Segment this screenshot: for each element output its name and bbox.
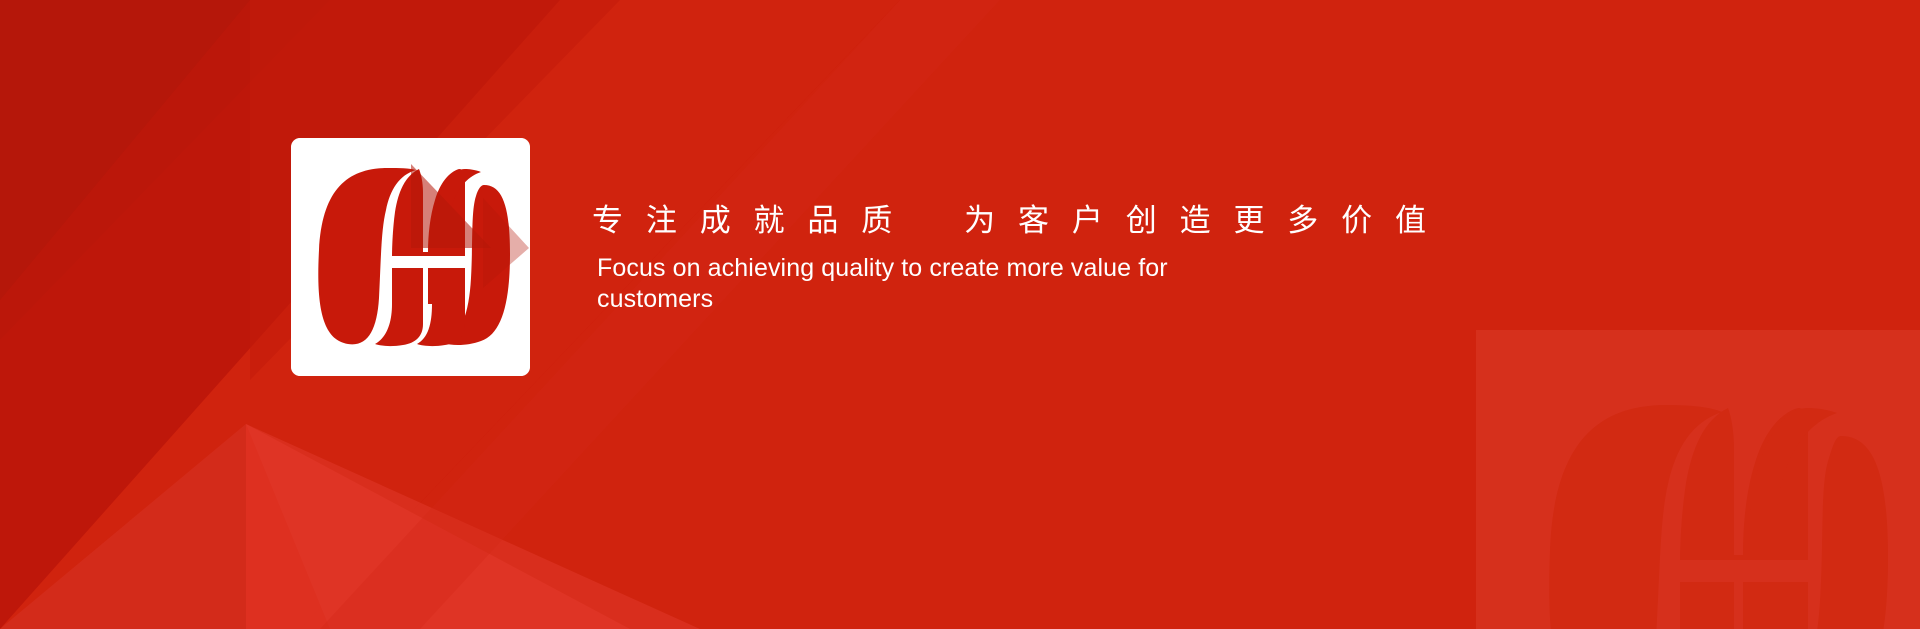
logo-watermark [1476,330,1920,629]
banner-text-block: 专 注 成 就 品 质 为 客 户 创 造 更 多 价 值 Focus on a… [592,198,1292,315]
subline-english: Focus on achieving quality to create mor… [597,253,1227,315]
h-monogram-icon [291,138,530,376]
headline-chinese: 专 注 成 就 品 质 为 客 户 创 造 更 多 价 值 [592,198,1292,244]
company-logo [291,138,530,376]
hero-banner: 专 注 成 就 品 质 为 客 户 创 造 更 多 价 值 Focus on a… [0,0,1920,629]
h-monogram-watermark-icon [1506,350,1920,629]
